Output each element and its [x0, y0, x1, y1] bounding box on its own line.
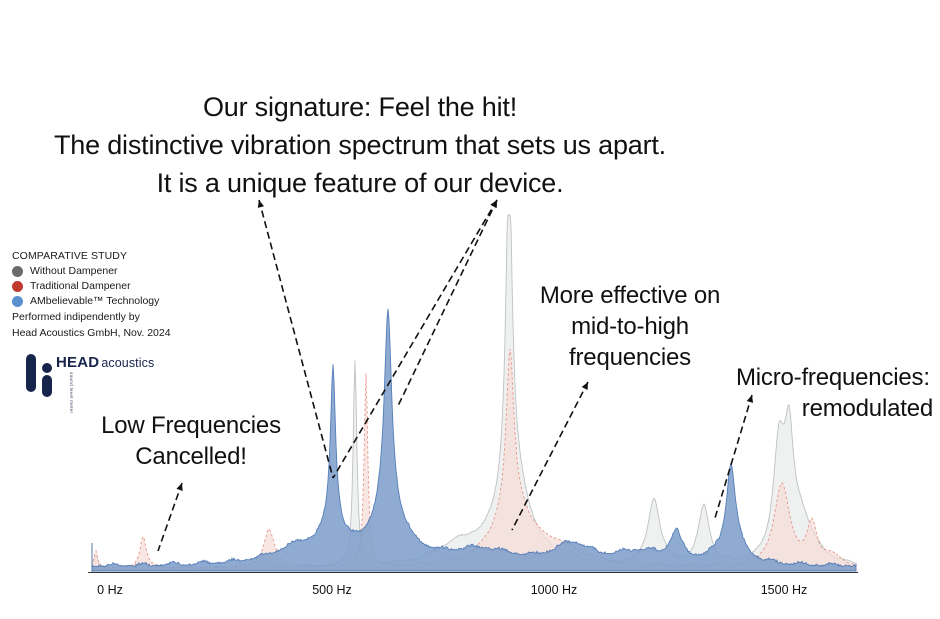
- axis-tick-label: 500 Hz: [312, 583, 352, 597]
- vibration-spectrum-chart: [0, 0, 940, 619]
- axis-tick-label: 1500 Hz: [761, 583, 808, 597]
- headline-arrow-left: [258, 200, 333, 478]
- spectrum-series-area: [92, 215, 856, 571]
- axis-tick-label: 1000 Hz: [531, 583, 578, 597]
- callout-arrow-low: [158, 483, 183, 551]
- infographic-root: Our signature: Feel the hit! The distinc…: [0, 0, 940, 619]
- headline-arrow-mid-left: [333, 200, 497, 478]
- callout-arrows: [158, 200, 753, 551]
- axis-tick-label: 0 Hz: [97, 583, 123, 597]
- spectrum-series-layer: [92, 215, 856, 571]
- headline-arrow-mid-right: [397, 200, 497, 408]
